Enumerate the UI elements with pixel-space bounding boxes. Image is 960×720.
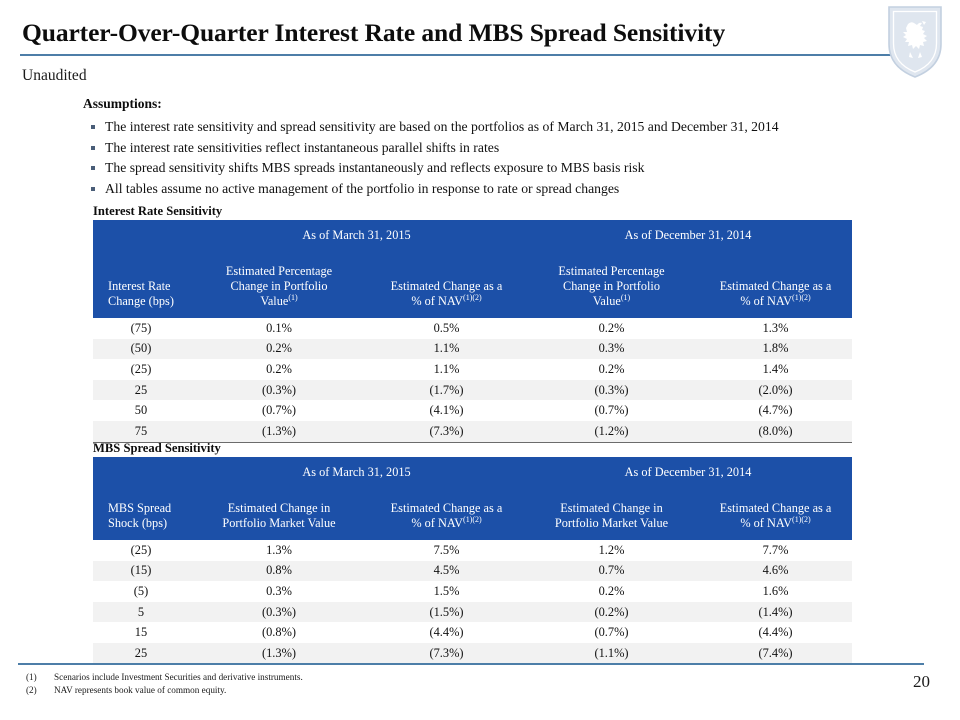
footnote-marker: (1) xyxy=(26,671,54,684)
period-header-prior: As of December 31, 2014 xyxy=(524,220,852,250)
cell: (1.3%) xyxy=(189,643,369,664)
cell: 1.3% xyxy=(699,318,852,339)
interest-rate-sensitivity-table: As of March 31, 2015 As of December 31, … xyxy=(93,220,852,443)
footnote-marker: (1) xyxy=(621,293,630,302)
assumption-item: The interest rate sensitivity and spread… xyxy=(89,117,909,138)
table-row: (75) 0.1% 0.5% 0.2% 1.3% xyxy=(93,318,852,339)
cell: 50 xyxy=(93,400,189,421)
cell: 0.7% xyxy=(524,561,699,582)
assumptions-list: The interest rate sensitivity and spread… xyxy=(89,117,909,199)
table-row: 75 (1.3%) (7.3%) (1.2%) (8.0%) xyxy=(93,421,852,442)
table-row: 15 (0.8%) (4.4%) (0.7%) (4.4%) xyxy=(93,622,852,643)
footnote-marker: (1)(2) xyxy=(792,293,811,302)
footer-divider xyxy=(18,663,924,665)
footnotes-block: (1)Scenarios include Investment Securiti… xyxy=(26,671,626,696)
table-row: (25) 1.3% 7.5% 1.2% 7.7% xyxy=(93,540,852,561)
cell: (75) xyxy=(93,318,189,339)
cell: 25 xyxy=(93,643,189,664)
cell: 5 xyxy=(93,602,189,623)
cell: 0.8% xyxy=(189,561,369,582)
cell: (0.3%) xyxy=(189,602,369,623)
cell: (4.4%) xyxy=(699,622,852,643)
cell: (50) xyxy=(93,339,189,360)
cell: (7.3%) xyxy=(369,643,524,664)
cell: (0.8%) xyxy=(189,622,369,643)
cell: 4.6% xyxy=(699,561,852,582)
assumptions-heading: Assumptions: xyxy=(83,96,162,112)
cell: (1.1%) xyxy=(524,643,699,664)
cell: (0.7%) xyxy=(524,400,699,421)
cell: (1.5%) xyxy=(369,602,524,623)
cell: (0.3%) xyxy=(189,380,369,401)
table-row: 50 (0.7%) (4.1%) (0.7%) (4.7%) xyxy=(93,400,852,421)
column-header-pct-nav-current: Estimated Change as a % of NAV(1)(2) xyxy=(369,501,524,540)
footnote-marker: (2) xyxy=(26,684,54,697)
page-title: Quarter-Over-Quarter Interest Rate and M… xyxy=(22,18,882,48)
assumption-item: All tables assume no active management o… xyxy=(89,179,909,200)
column-header-row: Interest Rate Change (bps) Estimated Per… xyxy=(93,264,852,318)
cell: 7.7% xyxy=(699,540,852,561)
cell: (1.7%) xyxy=(369,380,524,401)
column-header-pct-change-portfolio-value-current: Estimated Percentage Change in Portfolio… xyxy=(189,264,369,318)
cell: (25) xyxy=(93,540,189,561)
cell: (7.3%) xyxy=(369,421,524,442)
cell: 0.5% xyxy=(369,318,524,339)
bullet-icon xyxy=(91,146,95,150)
period-header-current: As of March 31, 2015 xyxy=(189,220,524,250)
table-row: (50) 0.2% 1.1% 0.3% 1.8% xyxy=(93,339,852,360)
table-row: (5) 0.3% 1.5% 0.2% 1.6% xyxy=(93,581,852,602)
cell: 1.4% xyxy=(699,359,852,380)
cell: 4.5% xyxy=(369,561,524,582)
period-header-row: As of March 31, 2015 As of December 31, … xyxy=(93,457,852,487)
mbs-spread-sensitivity-table: As of March 31, 2015 As of December 31, … xyxy=(93,457,852,665)
cell: 1.8% xyxy=(699,339,852,360)
column-header-pct-change-portfolio-value-prior: Estimated Percentage Change in Portfolio… xyxy=(524,264,699,318)
column-header-shock-bps: MBS Spread Shock (bps) xyxy=(93,501,189,540)
cell: (1.3%) xyxy=(189,421,369,442)
period-header-spacer xyxy=(93,220,189,250)
cell: (15) xyxy=(93,561,189,582)
assumption-text: The interest rate sensitivities reflect … xyxy=(105,140,499,155)
cell: 0.3% xyxy=(189,581,369,602)
cell: (0.2%) xyxy=(524,602,699,623)
footnote-text: Scenarios include Investment Securities … xyxy=(54,672,303,682)
bullet-icon xyxy=(91,125,95,129)
footnote-row: (1)Scenarios include Investment Securiti… xyxy=(26,671,626,684)
page-number: 20 xyxy=(913,672,930,692)
bullet-icon xyxy=(91,166,95,170)
cell: (1.4%) xyxy=(699,602,852,623)
section-label-mbs-spread-sensitivity: MBS Spread Sensitivity xyxy=(93,441,221,456)
footnote-marker: (1)(2) xyxy=(792,515,811,524)
column-header-change-bps: Interest Rate Change (bps) xyxy=(93,264,189,318)
cell: 0.3% xyxy=(524,339,699,360)
cell: (1.2%) xyxy=(524,421,699,442)
period-header-row: As of March 31, 2015 As of December 31, … xyxy=(93,220,852,250)
cell: (0.7%) xyxy=(524,622,699,643)
assumption-text: The interest rate sensitivity and spread… xyxy=(105,119,779,134)
assumption-text: All tables assume no active management o… xyxy=(105,181,619,196)
title-divider xyxy=(20,54,900,56)
footnote-marker: (1)(2) xyxy=(463,515,482,524)
cell: (4.1%) xyxy=(369,400,524,421)
assumption-item: The interest rate sensitivities reflect … xyxy=(89,138,909,159)
cell: 75 xyxy=(93,421,189,442)
cell: 25 xyxy=(93,380,189,401)
cell: 1.1% xyxy=(369,359,524,380)
cell: (25) xyxy=(93,359,189,380)
table-row: 25 (1.3%) (7.3%) (1.1%) (7.4%) xyxy=(93,643,852,664)
cell: (7.4%) xyxy=(699,643,852,664)
header-spacer-row xyxy=(93,487,852,501)
cell: (4.4%) xyxy=(369,622,524,643)
footnote-marker: (1)(2) xyxy=(463,293,482,302)
unaudited-label: Unaudited xyxy=(22,67,87,85)
cell: 1.5% xyxy=(369,581,524,602)
cell: 7.5% xyxy=(369,540,524,561)
period-header-spacer xyxy=(93,457,189,487)
column-header-change-portfolio-market-value-prior: Estimated Change in Portfolio Market Val… xyxy=(524,501,699,540)
cell: (5) xyxy=(93,581,189,602)
cell: 1.3% xyxy=(189,540,369,561)
table-row: 5 (0.3%) (1.5%) (0.2%) (1.4%) xyxy=(93,602,852,623)
bullet-icon xyxy=(91,187,95,191)
cell: (8.0%) xyxy=(699,421,852,442)
lion-shield-logo xyxy=(886,4,944,80)
cell: (0.3%) xyxy=(524,380,699,401)
cell: 15 xyxy=(93,622,189,643)
header-spacer-row xyxy=(93,250,852,264)
period-header-prior: As of December 31, 2014 xyxy=(524,457,852,487)
cell: 0.2% xyxy=(189,359,369,380)
cell: (4.7%) xyxy=(699,400,852,421)
footnote-row: (2)NAV represents book value of common e… xyxy=(26,684,626,697)
assumption-item: The spread sensitivity shifts MBS spread… xyxy=(89,158,909,179)
column-header-row: MBS Spread Shock (bps) Estimated Change … xyxy=(93,501,852,540)
cell: 1.6% xyxy=(699,581,852,602)
table-row: (15) 0.8% 4.5% 0.7% 4.6% xyxy=(93,561,852,582)
cell: 0.2% xyxy=(524,359,699,380)
period-header-current: As of March 31, 2015 xyxy=(189,457,524,487)
cell: (0.7%) xyxy=(189,400,369,421)
cell: (2.0%) xyxy=(699,380,852,401)
column-header-pct-nav-prior: Estimated Change as a % of NAV(1)(2) xyxy=(699,264,852,318)
section-label-interest-rate-sensitivity: Interest Rate Sensitivity xyxy=(93,204,222,219)
footnote-marker: (1) xyxy=(288,293,297,302)
cell: 0.2% xyxy=(524,581,699,602)
table-row: (25) 0.2% 1.1% 0.2% 1.4% xyxy=(93,359,852,380)
column-header-pct-nav-current: Estimated Change as a % of NAV(1)(2) xyxy=(369,264,524,318)
column-header-change-portfolio-market-value-current: Estimated Change in Portfolio Market Val… xyxy=(189,501,369,540)
cell: 1.1% xyxy=(369,339,524,360)
column-header-pct-nav-prior: Estimated Change as a % of NAV(1)(2) xyxy=(699,501,852,540)
assumption-text: The spread sensitivity shifts MBS spread… xyxy=(105,160,644,175)
cell: 0.1% xyxy=(189,318,369,339)
cell: 0.2% xyxy=(524,318,699,339)
cell: 0.2% xyxy=(189,339,369,360)
footnote-text: NAV represents book value of common equi… xyxy=(54,685,226,695)
table-row: 25 (0.3%) (1.7%) (0.3%) (2.0%) xyxy=(93,380,852,401)
cell: 1.2% xyxy=(524,540,699,561)
